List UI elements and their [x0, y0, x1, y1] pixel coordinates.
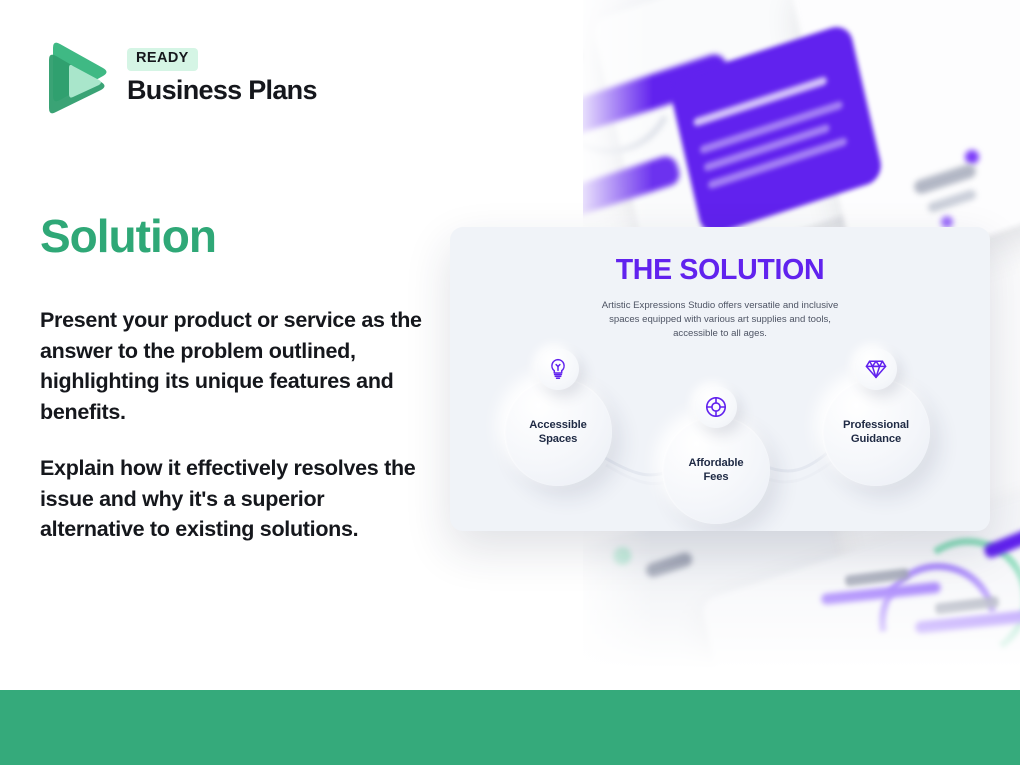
ready-badge: READY — [127, 48, 198, 71]
body-paragraph-2: Explain how it effectively resolves the … — [40, 453, 432, 545]
diamond-icon — [855, 348, 897, 390]
feature-bubble-accessible-spaces[interactable]: Accessible Spaces — [504, 378, 612, 486]
feature-bubble-affordable-fees[interactable]: Affordable Fees — [662, 416, 770, 524]
body-copy: Present your product or service as the a… — [40, 305, 432, 545]
feature-label: Professional Guidance — [843, 418, 909, 447]
feature-bubbles: Accessible Spaces Affordable Fees — [450, 227, 990, 531]
background-dot — [965, 150, 979, 164]
footer-bar — [0, 690, 1020, 765]
brand-title: Business Plans — [127, 75, 317, 106]
feature-label: Accessible Spaces — [529, 418, 586, 447]
lightbulb-icon — [537, 348, 579, 390]
feature-bubble-professional-guidance[interactable]: Professional Guidance — [822, 378, 930, 486]
lifebuoy-icon — [695, 386, 737, 428]
body-paragraph-1: Present your product or service as the a… — [40, 305, 432, 427]
page-title: Solution — [40, 211, 216, 262]
feature-label: Affordable Fees — [689, 456, 744, 485]
play-triangle-logo-icon — [41, 38, 113, 116]
brand-logo: READY Business Plans — [41, 38, 317, 116]
solution-preview-card: THE SOLUTION Artistic Expressions Studio… — [450, 227, 990, 531]
background-fade — [583, 550, 1020, 690]
